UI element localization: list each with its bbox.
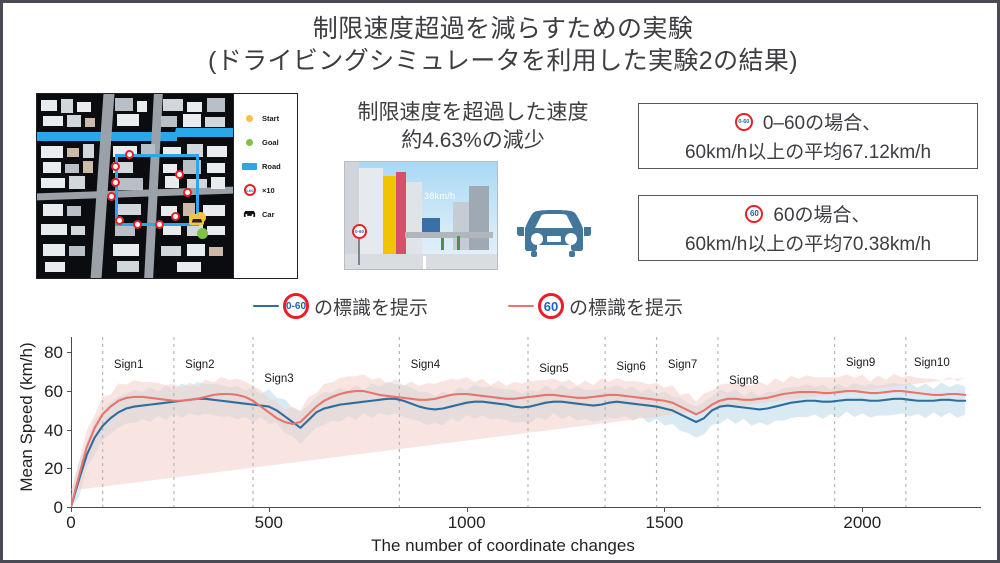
goal-marker [197, 228, 208, 239]
route-map-panel: Start Goal Road 0-60 ×10 Car [36, 93, 298, 279]
speed-sign-icon: 60 [538, 293, 564, 319]
result-heading: 60の場合、 [773, 200, 870, 227]
legend-label: Road [262, 162, 281, 171]
road-bar-icon [240, 163, 259, 170]
y-tick-label: 0 [23, 498, 63, 518]
car-marker [189, 214, 204, 225]
x-tick-label: 2000 [843, 513, 881, 533]
sign-annotation: Sign2 [185, 359, 214, 371]
legend-entry-red: 60 の標識を提示 [508, 293, 683, 320]
legend-entry-blue: 0-60 の標識を提示 [253, 293, 428, 320]
sign-annotation: Sign9 [846, 357, 875, 369]
sign-pole [358, 239, 360, 265]
slide-canvas: 制限速度超過を減らすための実験 (ドライビングシミュレータを利用した実験2の結果… [0, 0, 1000, 563]
legend-label: Car [262, 210, 275, 219]
x-axis-label: The number of coordinate changes [3, 536, 1000, 556]
x-tick-label: 1000 [448, 513, 486, 533]
legend-label: Start [262, 114, 279, 123]
map-sign-marker [111, 162, 120, 171]
sign-annotation: Sign5 [539, 363, 568, 375]
legend-item-signs: 0-60 ×10 [240, 178, 297, 202]
sim-speed-readout: 38km/h [424, 191, 455, 201]
x-tick-mark [664, 507, 665, 512]
result-line-2: 60km/h以上の平均67.12km/h [685, 137, 931, 164]
map-sign-marker [133, 220, 142, 229]
x-axis-line [71, 507, 981, 508]
result-box-0-60: 0-60 0–60の場合、 60km/h以上の平均67.12km/h [638, 103, 978, 169]
speed-sign-icon: 0-60 [283, 293, 309, 319]
goal-dot-icon [240, 139, 259, 146]
result-heading: 0–60の場合、 [763, 108, 881, 135]
legend-entry-label: の標識を提示 [314, 293, 428, 320]
result-box-60: 60 60の場合、 60km/h以上の平均70.38km/h [638, 195, 978, 261]
result-line-1: 0-60 0–60の場合、 [735, 108, 881, 135]
x-tick-mark [467, 507, 468, 512]
sign-annotation: Sign4 [411, 359, 440, 371]
y-tick-label: 20 [23, 459, 63, 479]
car-icon [511, 203, 597, 261]
start-dot-icon [240, 115, 259, 122]
y-tick-label: 40 [23, 421, 63, 441]
line-swatch-blue [253, 305, 279, 308]
x-tick-mark [71, 507, 72, 512]
legend-label: ×10 [262, 186, 275, 195]
page-title: 制限速度超過を減らすための実験 (ドライビングシミュレータを利用した実験2の結果… [3, 13, 1000, 77]
legend-entry-label: の標識を提示 [569, 293, 683, 320]
speed-sign-icon: 60 [745, 205, 763, 223]
car-icon [240, 209, 259, 219]
map-sign-marker [155, 220, 164, 229]
legend-item-goal: Goal [240, 130, 297, 154]
reduction-line-2: 約4.63%の減少 [323, 127, 623, 155]
reduction-line-1: 制限速度を超過した速度 [323, 99, 623, 127]
result-line-2: 60km/h以上の平均70.38km/h [685, 229, 931, 256]
speed-sign-icon: 0-60 [352, 224, 367, 239]
reduction-summary: 制限速度を超過した速度 約4.63%の減少 [323, 99, 623, 155]
map-sign-marker [183, 188, 192, 197]
legend-item-road: Road [240, 154, 297, 178]
sign-annotation: Sign8 [729, 375, 758, 387]
y-tick-label: 60 [23, 382, 63, 402]
x-tick-mark [862, 507, 863, 512]
result-line-1: 60 60の場合、 [745, 200, 870, 227]
simulator-screenshot: 38km/h 0-60 [344, 161, 498, 270]
mean-speed-chart: Mean Speed (km/h) 020406080 050010001500… [3, 329, 1000, 563]
sign-annotation: Sign3 [264, 373, 293, 385]
map-legend: Start Goal Road 0-60 ×10 Car [233, 94, 297, 278]
sign-annotation: Sign7 [668, 359, 697, 371]
map-sign-marker [125, 150, 134, 159]
x-tick-mark [269, 507, 270, 512]
legend-item-start: Start [240, 106, 297, 130]
legend-label: Goal [262, 138, 279, 147]
map-sign-marker [111, 178, 120, 187]
title-line-1: 制限速度超過を減らすための実験 [3, 13, 1000, 45]
map-sign-marker [115, 216, 124, 225]
x-tick-label: 1500 [646, 513, 684, 533]
map-sign-marker [171, 212, 180, 221]
line-swatch-red [508, 305, 534, 308]
chart-legend: 0-60 の標識を提示 60 の標識を提示 [253, 289, 823, 323]
map-sign-marker [107, 192, 116, 201]
legend-item-car: Car [240, 202, 297, 226]
sign-annotation: Sign1 [114, 359, 143, 371]
confidence-band [71, 374, 965, 491]
map-sign-marker [175, 170, 184, 179]
map-canvas [37, 94, 233, 278]
speed-sign-icon: 0-60 [240, 184, 259, 196]
speed-sign-icon: 0-60 [735, 113, 753, 131]
x-tick-label: 0 [66, 513, 75, 533]
sign-annotation: Sign10 [914, 357, 950, 369]
x-tick-label: 500 [255, 513, 283, 533]
y-tick-label: 80 [23, 343, 63, 363]
sign-annotation: Sign6 [616, 361, 645, 373]
title-line-2: (ドライビングシミュレータを利用した実験2の結果) [3, 45, 1000, 77]
